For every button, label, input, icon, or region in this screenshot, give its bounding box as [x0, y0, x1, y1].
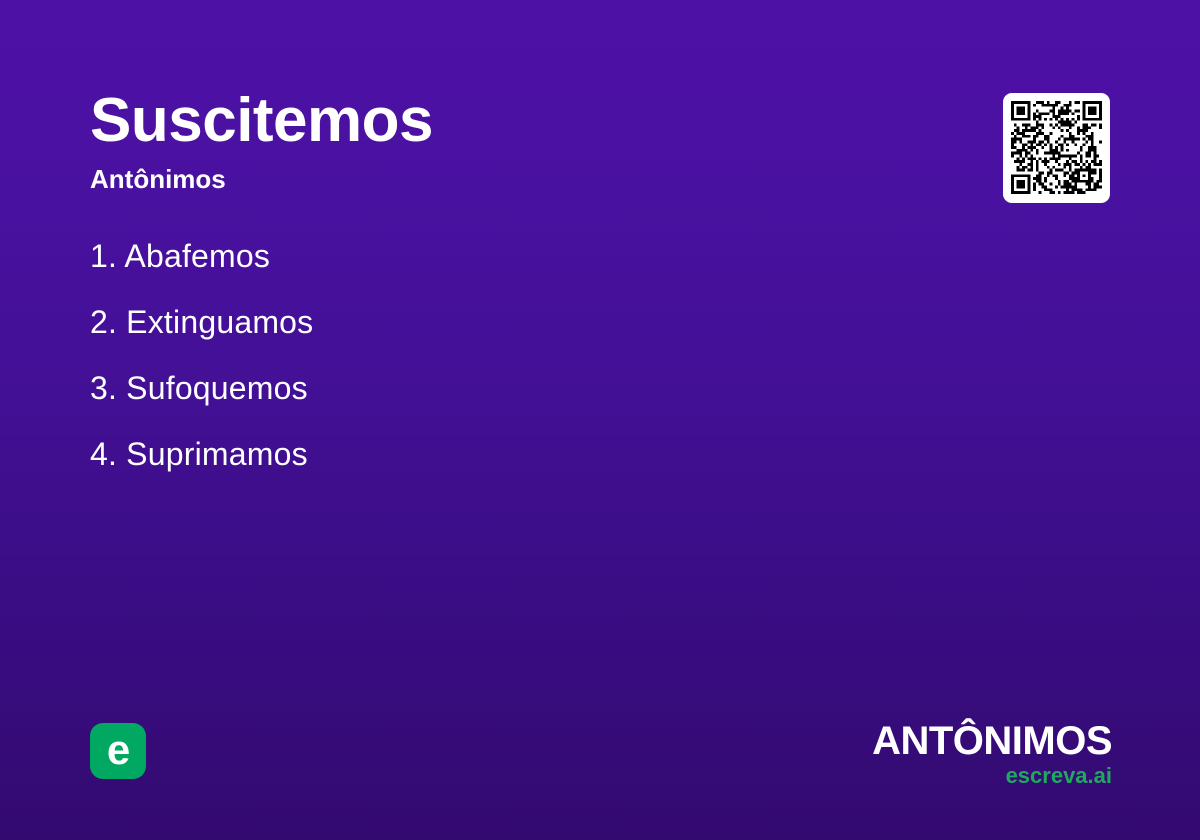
- list-item: 2. Extinguamos: [90, 300, 950, 366]
- list-item-index: 4.: [90, 436, 117, 472]
- list-item: 3. Sufoquemos: [90, 366, 950, 432]
- list-item-label: Sufoquemos: [117, 370, 308, 406]
- brand-mark-letter: e: [107, 729, 129, 771]
- list-item-index: 2.: [90, 304, 117, 340]
- list-item-index: 1.: [90, 238, 117, 274]
- qr-code-card[interactable]: [1003, 93, 1110, 203]
- escreva-e-logo-icon: e: [90, 723, 146, 779]
- list-item-label: Suprimamos: [117, 436, 308, 472]
- brand-wordmark-subtitle: escreva.ai: [872, 765, 1112, 787]
- brand-wordmark-title: ANTÔNIMOS: [872, 721, 1112, 761]
- header-block: Suscitemos Antônimos: [90, 88, 950, 194]
- list-item: 4. Suprimamos: [90, 432, 950, 498]
- page-title: Suscitemos: [90, 88, 950, 153]
- qr-code-icon: [1011, 101, 1102, 194]
- list-item-index: 3.: [90, 370, 117, 406]
- page-subtitle: Antônimos: [90, 165, 950, 194]
- antonym-list: 1. Abafemos2. Extinguamos3. Sufoquemos4.…: [90, 234, 950, 498]
- slide-canvas: Suscitemos Antônimos 1. Abafemos2. Extin…: [0, 0, 1200, 840]
- brand-wordmark: ANTÔNIMOS escreva.ai: [872, 721, 1112, 787]
- list-item-label: Extinguamos: [117, 304, 313, 340]
- list-item: 1. Abafemos: [90, 234, 950, 300]
- list-item-label: Abafemos: [117, 238, 270, 274]
